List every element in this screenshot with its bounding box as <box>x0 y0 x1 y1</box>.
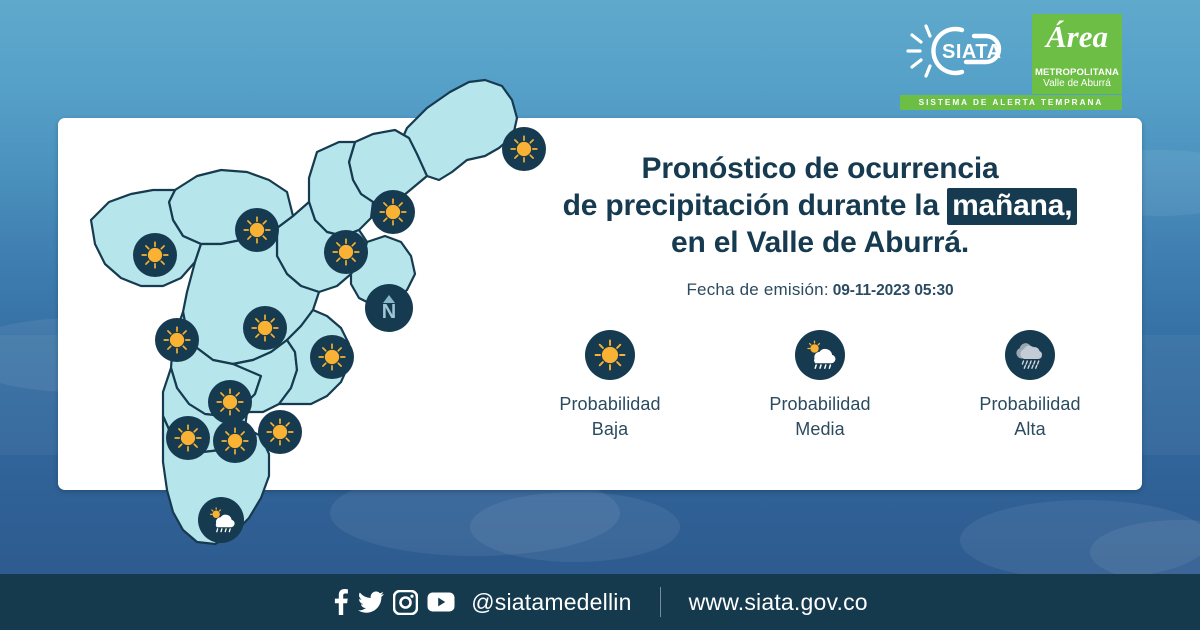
tagline-bar: SISTEMA DE ALERTA TEMPRANA <box>900 95 1122 110</box>
sun-icon <box>155 318 199 362</box>
sun-icon <box>133 233 177 277</box>
sun-icon <box>235 208 279 252</box>
rain-cloud-icon <box>1005 330 1055 380</box>
headline-line-1: Pronóstico de ocurrencia <box>505 150 1135 187</box>
headline-highlight: mañana, <box>947 188 1077 225</box>
headline-line-2: de precipitación durante la mañana, <box>505 187 1135 224</box>
footer-divider <box>660 587 661 617</box>
area-metropolitana-text: METROPOLITANA <box>1035 67 1119 78</box>
sun-icon <box>166 416 210 460</box>
sun-icon <box>585 330 635 380</box>
legend-label-line1: Probabilidad <box>520 392 700 417</box>
instagram-icon[interactable] <box>393 590 418 615</box>
compass-label: N <box>382 303 396 321</box>
legend-label-line2: Baja <box>520 417 700 442</box>
siata-logo: SIATA <box>900 20 1028 82</box>
sun-icon <box>310 335 354 379</box>
infographic-canvas: SIATA Área METROPOLITANA Valle de Aburrá… <box>0 0 1200 630</box>
siata-wordmark: SIATA <box>942 41 1002 63</box>
legend-label-line1: Probabilidad <box>940 392 1120 417</box>
area-valle-text: Valle de Aburrá <box>1043 78 1111 90</box>
headline-line-2-text: de precipitación durante la <box>563 189 948 222</box>
social-handle[interactable]: @siatamedellin <box>471 589 631 616</box>
sun-icon <box>258 410 302 454</box>
sun-behind-rain-cloud-icon <box>198 497 244 543</box>
municipality-polygons <box>91 80 517 544</box>
area-script-text: Área <box>1032 20 1122 54</box>
legend-item-media: Probabilidad Media <box>730 330 910 442</box>
legend-label-line2: Media <box>730 417 910 442</box>
facebook-icon[interactable] <box>332 589 349 615</box>
sun-behind-rain-cloud-icon <box>795 330 845 380</box>
compass-north-icon: N <box>365 284 413 332</box>
legend-label-line2: Alta <box>940 417 1120 442</box>
issue-date-value: 09-11-2023 05:30 <box>833 282 954 299</box>
headline-line-3: en el Valle de Aburrá. <box>505 224 1135 261</box>
sun-icon <box>213 419 257 463</box>
legend-label-baja: Probabilidad Baja <box>520 392 700 442</box>
legend-item-baja: Probabilidad Baja <box>520 330 700 442</box>
valle-de-aburra-map: N <box>55 30 525 590</box>
footer-bar: @siatamedellin www.siata.gov.co <box>0 574 1200 630</box>
legend-label-alta: Probabilidad Alta <box>940 392 1120 442</box>
legend-label-media: Probabilidad Media <box>730 392 910 442</box>
sun-icon <box>208 380 252 424</box>
youtube-icon[interactable] <box>427 592 455 612</box>
forecast-text-panel: Pronóstico de ocurrencia de precipitació… <box>505 150 1135 300</box>
probability-legend: Probabilidad Baja <box>505 330 1135 442</box>
area-metropolitana-badge: Área METROPOLITANA Valle de Aburrá <box>1032 14 1122 94</box>
sun-icon <box>243 306 287 350</box>
brand-logos: SIATA Área METROPOLITANA Valle de Aburrá… <box>900 14 1122 110</box>
bg-cloud-5 <box>960 500 1200 580</box>
sun-icon <box>324 230 368 274</box>
twitter-icon[interactable] <box>358 589 384 615</box>
legend-item-alta: Probabilidad Alta <box>940 330 1120 442</box>
sun-icon <box>371 190 415 234</box>
issue-date-label: Fecha de emisión: <box>686 280 828 299</box>
issue-date: Fecha de emisión:09-11-2023 05:30 <box>505 280 1135 300</box>
social-icons <box>332 589 455 615</box>
website-url[interactable]: www.siata.gov.co <box>689 589 868 616</box>
legend-label-line1: Probabilidad <box>730 392 910 417</box>
page-title: Pronóstico de ocurrencia de precipitació… <box>505 150 1135 261</box>
